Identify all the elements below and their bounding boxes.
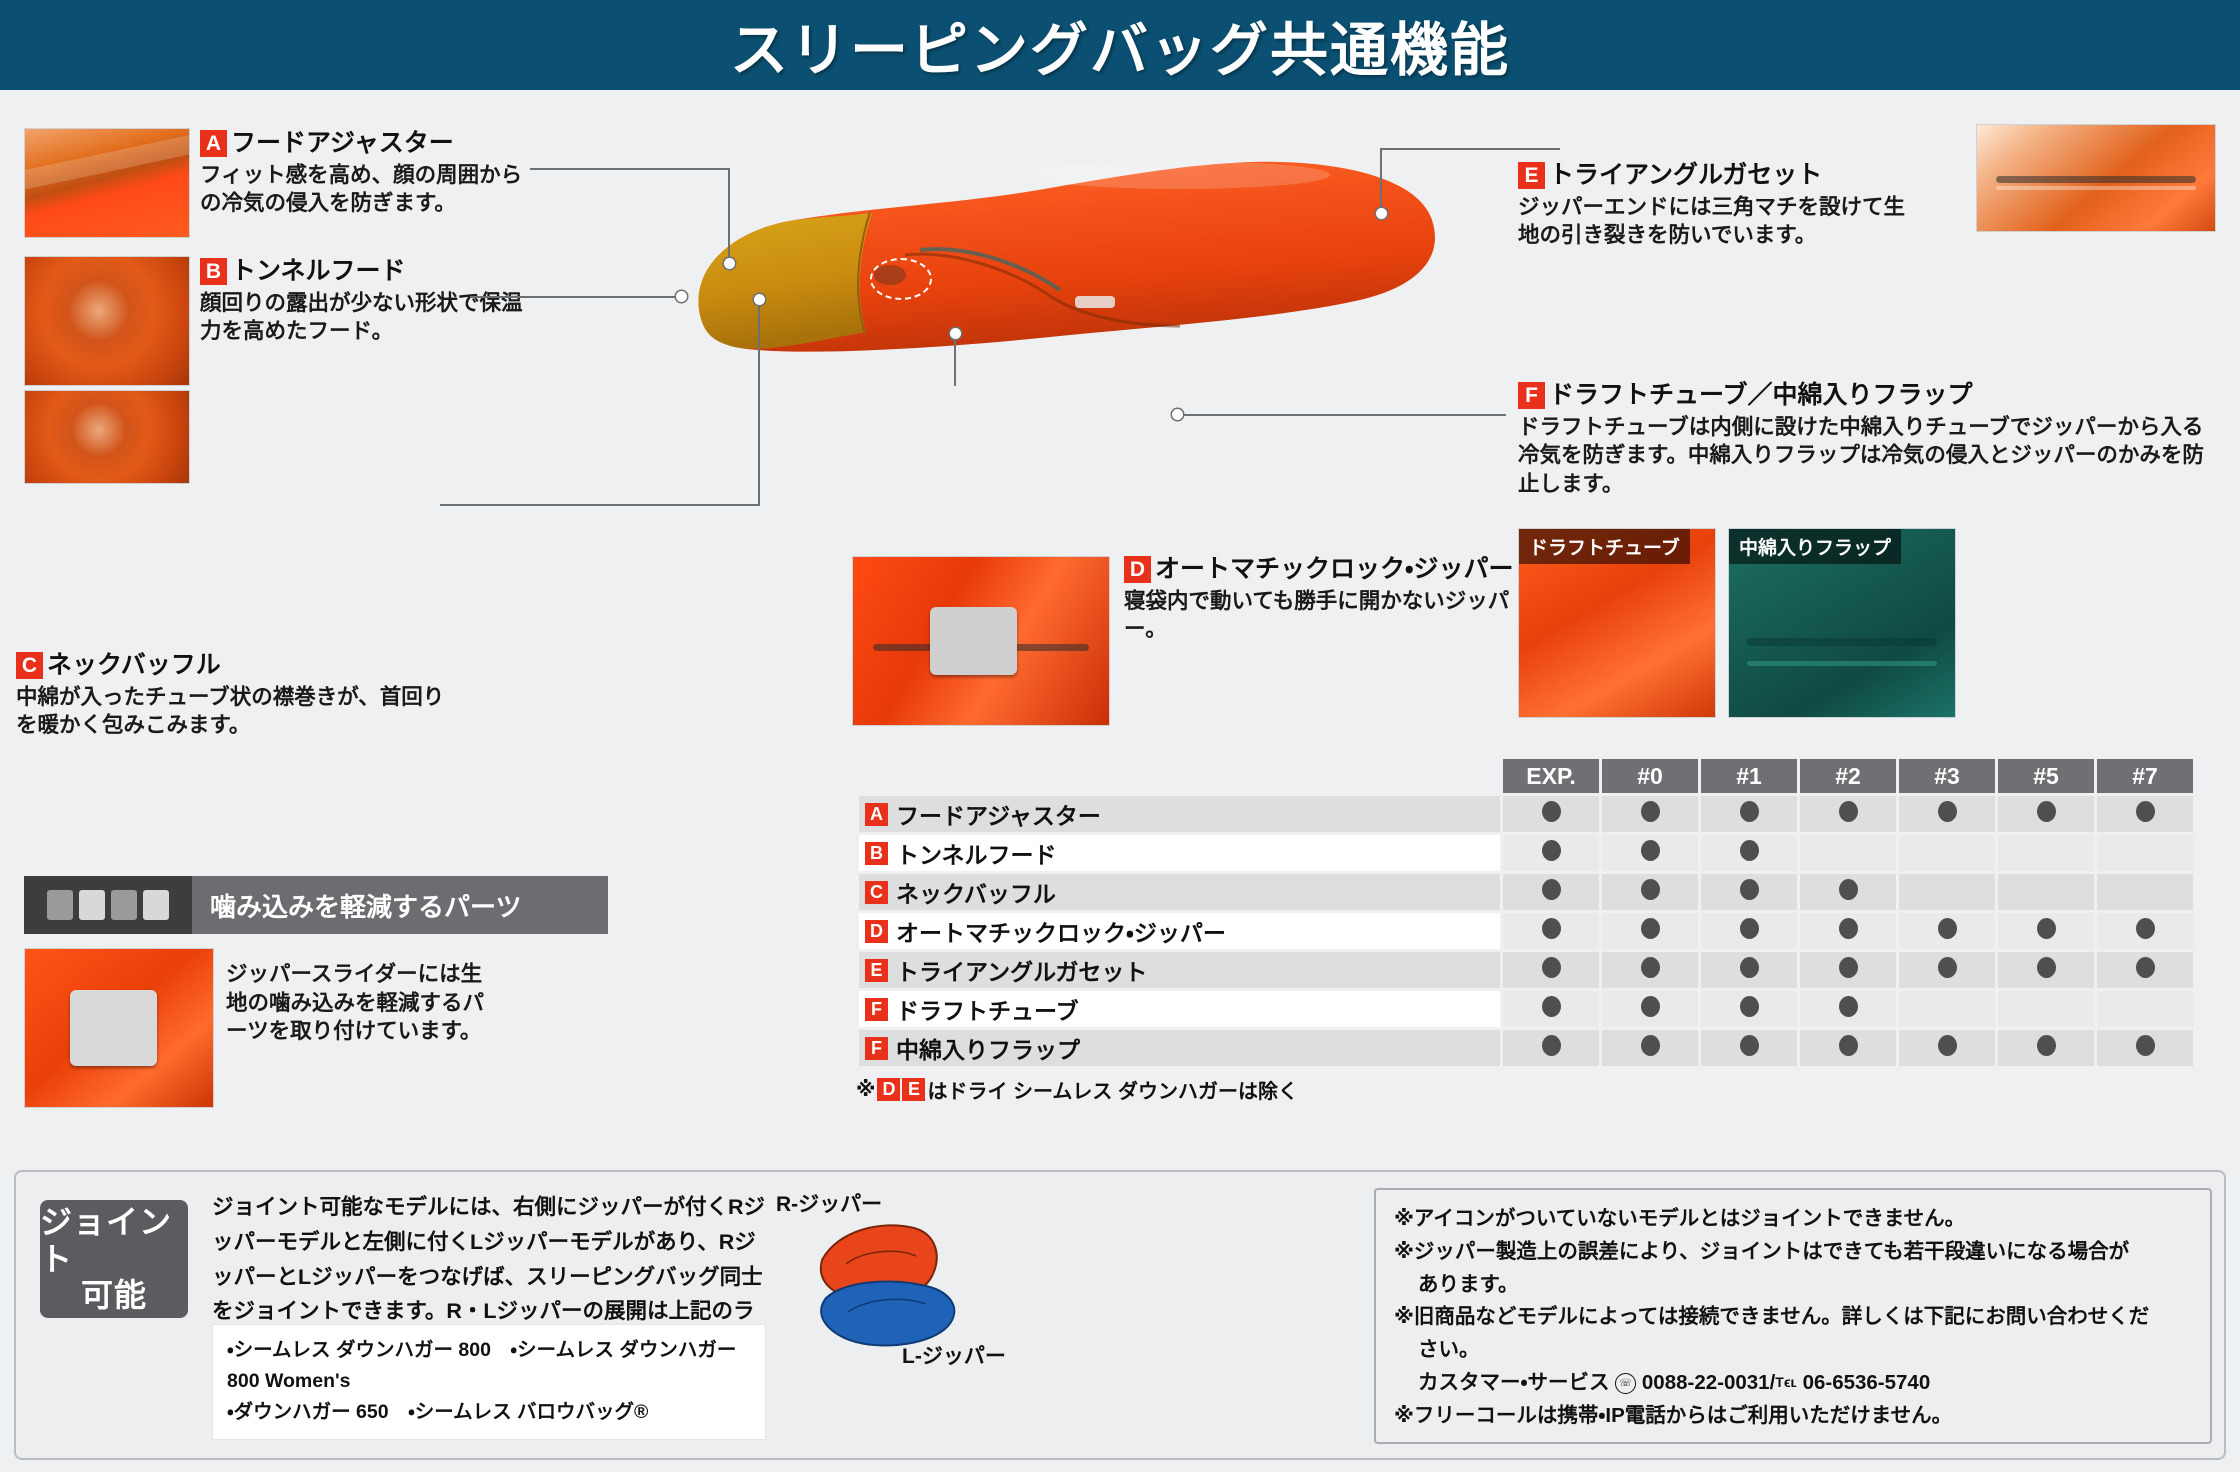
joint-note-4: ※旧商品などモデルによっては接続できません。詳しくは下記にお問い合わせくだ xyxy=(1394,1302,2192,1333)
joint-note-5: さい。 xyxy=(1394,1335,2192,1366)
callout-e: E トライアングルガセット ジッパーエンドには三角マチを設けて生地の引き裂きを防… xyxy=(1518,162,1918,250)
callout-c-body: 中綿が入ったチューブ状の襟巻きが、首回りを暖かく包みこみます。 xyxy=(16,683,446,740)
photo-sheen xyxy=(24,129,190,192)
check-dot-icon xyxy=(1938,918,1957,939)
callout-a-title-text: フードアジャスター xyxy=(231,130,454,158)
table-cell-EXP xyxy=(1503,874,1599,910)
zipper-bag-blue xyxy=(821,1282,954,1346)
table-body: AフードアジャスターBトンネルフードCネックバッフルDオートマチックロック・ジッ… xyxy=(859,796,2193,1066)
photo-caption-draft-tube: ドラフトチューブ xyxy=(1519,529,1690,564)
parts-icon-group xyxy=(24,876,192,934)
footnote-prefix: ※ xyxy=(856,1077,875,1102)
table-cell-7 xyxy=(2097,874,2193,910)
leader-line-a xyxy=(530,168,730,170)
parts-bar: 噛み込みを軽減するパーツ xyxy=(24,876,608,934)
badge-d-footnote: D xyxy=(877,1078,900,1101)
callout-f-title-text: ドラフトチューブ／中綿入りフラップ xyxy=(1549,382,1973,410)
table-cell-0 xyxy=(1602,835,1698,871)
bag-highlight xyxy=(1030,161,1330,189)
photo-tunnel-hood xyxy=(24,256,190,386)
check-dot-icon xyxy=(1641,957,1660,978)
check-dot-icon xyxy=(2037,957,2056,978)
check-dot-icon xyxy=(1542,996,1561,1017)
table-row: Eトライアングルガセット xyxy=(859,952,2193,988)
check-dot-icon xyxy=(1839,957,1858,978)
callout-e-body: ジッパーエンドには三角マチを設けて生地の引き裂きを防いでいます。 xyxy=(1518,193,1918,250)
table-cell-0 xyxy=(1602,952,1698,988)
zipper-direction-illustration: R-ジッパー L-ジッパー xyxy=(786,1194,1016,1364)
bag-logo-tag xyxy=(1075,296,1115,308)
badge-a-row: A xyxy=(865,803,888,826)
table-cell-3 xyxy=(1899,952,1995,988)
check-dot-icon xyxy=(1938,957,1957,978)
callout-f-title: F ドラフトチューブ／中綿入りフラップ xyxy=(1518,382,2208,410)
photo-hood-face xyxy=(24,390,190,484)
table-cell-2 xyxy=(1800,874,1896,910)
table-cell-1 xyxy=(1701,991,1797,1027)
table-col-2: #2 xyxy=(1800,759,1896,793)
badge-f-row: F xyxy=(865,1037,888,1060)
callout-a-body: フィット感を高め、顔の周囲からの冷気の侵入を防ぎます。 xyxy=(200,161,530,218)
check-dot-icon xyxy=(1740,996,1759,1017)
leader-dot-a xyxy=(724,258,735,269)
table-row: Aフードアジャスター xyxy=(859,796,2193,832)
row-label-inner: Eトライアングルガセット xyxy=(865,953,1500,987)
photo-zipper-line-2 xyxy=(1996,186,2196,190)
check-dot-icon xyxy=(1740,1035,1759,1056)
row-label-text: 中綿入りフラップ xyxy=(896,1031,1080,1065)
check-dot-icon xyxy=(2136,957,2155,978)
joint-note-2: ※ジッパー製造上の誤差により、ジョイントはできても若干段違いになる場合が xyxy=(1394,1237,2192,1268)
zipper-slider-icon-4 xyxy=(143,890,169,920)
highlight-circle-draft xyxy=(870,258,932,300)
table-row-label: Cネックバッフル xyxy=(859,874,1500,910)
table-cell-1 xyxy=(1701,874,1797,910)
photo-d-zipper-slider xyxy=(930,607,1017,674)
check-dot-icon xyxy=(2136,1035,2155,1056)
leader-line-b xyxy=(470,296,680,298)
row-label-text: フードアジャスター xyxy=(896,797,1101,831)
footnote-suffix: はドライ シームレス ダウンハガーは除く xyxy=(927,1075,1298,1104)
page-header: スリーピングバッグ共通機能 xyxy=(0,0,2240,90)
joint-tag: ジョイント 可能 xyxy=(40,1200,188,1318)
row-label-text: オートマチックロック・ジッパー xyxy=(896,914,1226,948)
page-root: スリーピングバッグ共通機能 A フードアジャスター フィット感を高め、顔の周囲か… xyxy=(0,0,2240,1472)
table-cell-2 xyxy=(1800,835,1896,871)
check-dot-icon xyxy=(1740,879,1759,900)
table-cell-EXP xyxy=(1503,835,1599,871)
table-cell-0 xyxy=(1602,796,1698,832)
callout-b-title-text: トンネルフード xyxy=(231,258,406,286)
badge-e: E xyxy=(1518,162,1545,189)
table-cell-7 xyxy=(2097,913,2193,949)
table-cell-2 xyxy=(1800,796,1896,832)
badge-e-footnote: E xyxy=(902,1078,925,1101)
callout-e-title-text: トライアングルガセット xyxy=(1549,162,1822,190)
badge-b: B xyxy=(200,258,227,285)
table-cell-3 xyxy=(1899,874,1995,910)
table-cell-5 xyxy=(1998,796,2094,832)
table-col-0: #0 xyxy=(1602,759,1698,793)
badge-f: F xyxy=(1518,382,1545,409)
leader-line-c xyxy=(440,504,760,506)
joint-note-1: ※アイコンがついていないモデルとはジョイントできません。 xyxy=(1394,1204,2192,1235)
table-row: F中綿入りフラップ xyxy=(859,1030,2193,1066)
callout-e-title: E トライアングルガセット xyxy=(1518,162,1918,190)
table-cell-3 xyxy=(1899,796,1995,832)
table-cell-EXP xyxy=(1503,991,1599,1027)
callout-f-body: ドラフトチューブは内側に設けた中綿入りチューブでジッパーから入る冷気を防ぎます。… xyxy=(1518,413,2208,499)
check-dot-icon xyxy=(1542,918,1561,939)
customer-service-label: カスタマー・サービス xyxy=(1418,1371,1609,1394)
table-cell-EXP xyxy=(1503,796,1599,832)
badge-f-row: F xyxy=(865,998,888,1021)
table-row-label: Aフードアジャスター xyxy=(859,796,1500,832)
table-cell-1 xyxy=(1701,1030,1797,1066)
table-cell-1 xyxy=(1701,952,1797,988)
check-dot-icon xyxy=(1641,1035,1660,1056)
table-col-1: #1 xyxy=(1701,759,1797,793)
photo-zipper-slider-part xyxy=(24,948,214,1108)
callout-d: D オートマチックロック・ジッパー 寝袋内で動いても勝手に開かないジッパー。 xyxy=(1124,556,1524,644)
check-dot-icon xyxy=(1740,801,1759,822)
row-label-inner: Dオートマチックロック・ジッパー xyxy=(865,914,1500,948)
joint-note-contact: カスタマー・サービス ☏ 0088-22-0031/Tϵʟ 06-6536-57… xyxy=(1394,1368,2192,1399)
table-col-3: #3 xyxy=(1899,759,1995,793)
table-cell-5 xyxy=(1998,1030,2094,1066)
table-cell-5 xyxy=(1998,991,2094,1027)
joint-tag-line2: 可能 xyxy=(81,1277,147,1314)
table-cell-7 xyxy=(2097,835,2193,871)
table-cell-3 xyxy=(1899,913,1995,949)
photo-hood-adjuster xyxy=(24,128,190,238)
badge-d: D xyxy=(1124,556,1151,583)
table-row: Bトンネルフード xyxy=(859,835,2193,871)
check-dot-icon xyxy=(1839,918,1858,939)
check-dot-icon xyxy=(1542,1035,1561,1056)
table-cell-EXP xyxy=(1503,952,1599,988)
table-cell-7 xyxy=(2097,1030,2193,1066)
table-cell-3 xyxy=(1899,835,1995,871)
table-corner-cell xyxy=(859,759,1500,793)
photo-triangle-gusset xyxy=(1976,124,2216,232)
leader-line-a-v xyxy=(728,168,730,264)
leader-dot-f xyxy=(1172,409,1183,420)
row-label-inner: Bトンネルフード xyxy=(865,836,1500,870)
joint-models-line2: ・ダウンハガー 650 ・シームレス バロウバッグ® xyxy=(227,1397,751,1428)
table-cell-0 xyxy=(1602,991,1698,1027)
free-dial-number: 0088-22-0031 xyxy=(1642,1371,1770,1394)
callout-d-title: D オートマチックロック・ジッパー xyxy=(1124,556,1524,584)
table-cell-2 xyxy=(1800,952,1896,988)
table-cell-0 xyxy=(1602,874,1698,910)
check-dot-icon xyxy=(1641,996,1660,1017)
leader-line-c-v xyxy=(758,300,760,506)
check-dot-icon xyxy=(2136,918,2155,939)
table-col-exp: EXP. xyxy=(1503,759,1599,793)
check-dot-icon xyxy=(2037,801,2056,822)
table-cell-2 xyxy=(1800,913,1896,949)
table-row: Dオートマチックロック・ジッパー xyxy=(859,913,2193,949)
zipper-l-label: L-ジッパー xyxy=(902,1340,1006,1370)
table-row-label: Fドラフトチューブ xyxy=(859,991,1500,1027)
bag-foot xyxy=(698,213,872,349)
table-cell-7 xyxy=(2097,952,2193,988)
leader-line-e xyxy=(1380,148,1560,150)
photo-auto-lock-zipper xyxy=(852,556,1110,726)
joint-panel: ジョイント 可能 ジョイント可能なモデルには、右側にジッパーが付くRジッパーモデ… xyxy=(14,1170,2226,1460)
check-dot-icon xyxy=(1542,801,1561,822)
joint-notes-box: ※アイコンがついていないモデルとはジョイントできません。 ※ジッパー製造上の誤差… xyxy=(1374,1188,2212,1444)
leader-dot-c xyxy=(754,294,765,305)
check-dot-icon xyxy=(2037,918,2056,939)
check-dot-icon xyxy=(2136,801,2155,822)
check-dot-icon xyxy=(1938,801,1957,822)
free-dial-icon: ☏ xyxy=(1615,1373,1636,1394)
row-label-text: ドラフトチューブ xyxy=(896,992,1079,1026)
table-cell-5 xyxy=(1998,913,2094,949)
photo-zipper-line xyxy=(1996,176,2196,183)
parts-description-body: ジッパースライダーには生地の噛み込みを軽減するパーツを取り付けています。 xyxy=(226,960,486,1046)
row-label-text: トライアングルガセット xyxy=(896,953,1147,987)
check-dot-icon xyxy=(1641,879,1660,900)
table-row-label: F中綿入りフラップ xyxy=(859,1030,1500,1066)
table-cell-3 xyxy=(1899,991,1995,1027)
leader-line-f xyxy=(1176,414,1506,416)
check-dot-icon xyxy=(1542,957,1561,978)
badge-c-row: C xyxy=(865,881,888,904)
callout-c-title: C ネックバッフル xyxy=(16,652,446,680)
callout-b: B トンネルフード 顔回りの露出が少ない形状で保温力を高めたフード。 xyxy=(200,258,530,346)
table-cell-0 xyxy=(1602,913,1698,949)
table-col-5: #5 xyxy=(1998,759,2094,793)
joint-note-3: あります。 xyxy=(1394,1270,2192,1301)
table-cell-EXP xyxy=(1503,913,1599,949)
table-cell-2 xyxy=(1800,1030,1896,1066)
joint-models-box: ・シームレス ダウンハガー 800 ・シームレス ダウンハガー 800 Wome… xyxy=(212,1324,766,1440)
photo-insulated-flap: 中綿入りフラップ xyxy=(1728,528,1956,718)
leader-dot-e xyxy=(1376,208,1387,219)
table-cell-1 xyxy=(1701,835,1797,871)
callout-a: A フードアジャスター フィット感を高め、顔の周囲からの冷気の侵入を防ぎます。 xyxy=(200,130,530,218)
check-dot-icon xyxy=(1542,840,1561,861)
sleeping-bag-svg xyxy=(620,100,1500,400)
table-cell-EXP xyxy=(1503,1030,1599,1066)
table-col-7: #7 xyxy=(2097,759,2193,793)
zipper-slider-icon-3 xyxy=(111,890,137,920)
leader-dot-b xyxy=(676,291,687,302)
callout-b-title: B トンネルフード xyxy=(200,258,530,286)
callout-a-title: A フードアジャスター xyxy=(200,130,530,158)
check-dot-icon xyxy=(1740,840,1759,861)
row-label-inner: Aフードアジャスター xyxy=(865,797,1500,831)
callout-d-body: 寝袋内で動いても勝手に開かないジッパー。 xyxy=(1124,587,1524,644)
check-dot-icon xyxy=(1938,1035,1957,1056)
callout-c: C ネックバッフル 中綿が入ったチューブ状の襟巻きが、首回りを暖かく包みこみます… xyxy=(16,652,446,740)
photo-draft-tube: ドラフトチューブ xyxy=(1518,528,1716,718)
parts-bar-label: 噛み込みを軽減するパーツ xyxy=(192,887,521,924)
feature-table: EXP. #0 #1 #2 #3 #5 #7 AフードアジャスターBトンネルフー… xyxy=(856,756,2196,1069)
page-title: スリーピングバッグ共通機能 xyxy=(0,0,2240,90)
badge-e-row: E xyxy=(865,959,888,982)
row-label-text: ネックバッフル xyxy=(896,875,1056,909)
table-cell-5 xyxy=(1998,874,2094,910)
table-cell-2 xyxy=(1800,991,1896,1027)
table-cell-1 xyxy=(1701,913,1797,949)
row-label-inner: F中綿入りフラップ xyxy=(865,1031,1500,1065)
callout-d-title-text: オートマチックロック・ジッパー xyxy=(1155,556,1514,584)
photo-flap-seam-2 xyxy=(1747,661,1937,666)
leader-line-d-v xyxy=(954,334,956,386)
check-dot-icon xyxy=(1839,801,1858,822)
table-row: Fドラフトチューブ xyxy=(859,991,2193,1027)
row-label-text: トンネルフード xyxy=(896,836,1057,870)
leader-dot-d xyxy=(950,328,961,339)
table-cell-5 xyxy=(1998,952,2094,988)
table-row-label: Eトライアングルガセット xyxy=(859,952,1500,988)
check-dot-icon xyxy=(1740,918,1759,939)
joint-models-line1: ・シームレス ダウンハガー 800 ・シームレス ダウンハガー 800 Wome… xyxy=(227,1335,751,1397)
callout-f: F ドラフトチューブ／中綿入りフラップ ドラフトチューブは内側に設けた中綿入りチ… xyxy=(1518,382,2208,498)
table-footnote: ※ D E はドライ シームレス ダウンハガーは除く xyxy=(856,1075,2196,1104)
table-row: Cネックバッフル xyxy=(859,874,2193,910)
joint-note-7: ※フリーコールは携帯・IP電話からはご利用いただけません。 xyxy=(1394,1401,2192,1432)
table-row-label: Bトンネルフード xyxy=(859,835,1500,871)
table-header-row: EXP. #0 #1 #2 #3 #5 #7 xyxy=(859,759,2193,793)
check-dot-icon xyxy=(1740,957,1759,978)
sleeping-bag-illustration xyxy=(620,100,1500,400)
badge-b-row: B xyxy=(865,842,888,865)
check-dot-icon xyxy=(1641,801,1660,822)
row-label-inner: Cネックバッフル xyxy=(865,875,1500,909)
table-cell-5 xyxy=(1998,835,2094,871)
joint-tag-line1: ジョイント xyxy=(40,1204,188,1278)
badge-a: A xyxy=(200,130,227,157)
badge-c: C xyxy=(16,652,43,679)
row-label-inner: Fドラフトチューブ xyxy=(865,992,1500,1026)
photo-flap-seam xyxy=(1747,638,1937,646)
table-cell-0 xyxy=(1602,1030,1698,1066)
parts-description: ジッパースライダーには生地の噛み込みを軽減するパーツを取り付けています。 xyxy=(226,960,486,1046)
callout-c-title-text: ネックバッフル xyxy=(47,652,221,680)
check-dot-icon xyxy=(1641,840,1660,861)
table-cell-7 xyxy=(2097,991,2193,1027)
check-dot-icon xyxy=(1839,996,1858,1017)
table-cell-7 xyxy=(2097,796,2193,832)
photo-caption-insulated-flap: 中綿入りフラップ xyxy=(1729,529,1901,564)
table-cell-3 xyxy=(1899,1030,1995,1066)
check-dot-icon xyxy=(1839,1035,1858,1056)
tel-abbrev-label: Tϵʟ xyxy=(1775,1374,1797,1390)
feature-table-block: EXP. #0 #1 #2 #3 #5 #7 AフードアジャスターBトンネルフー… xyxy=(856,756,2196,1104)
table-row-label: Dオートマチックロック・ジッパー xyxy=(859,913,1500,949)
leader-line-e-v xyxy=(1380,148,1382,214)
check-dot-icon xyxy=(1542,879,1561,900)
photo-slider-body xyxy=(70,990,156,1066)
zipper-slider-icon-1 xyxy=(47,890,73,920)
tel-number: 06-6536-5740 xyxy=(1803,1371,1931,1394)
check-dot-icon xyxy=(1641,918,1660,939)
badge-d-row: D xyxy=(865,920,888,943)
check-dot-icon xyxy=(2037,1035,2056,1056)
zipper-illo-svg xyxy=(786,1194,1016,1364)
check-dot-icon xyxy=(1839,879,1858,900)
table-cell-1 xyxy=(1701,796,1797,832)
zipper-r-label: R-ジッパー xyxy=(776,1188,882,1218)
zipper-slider-icon-2 xyxy=(79,890,105,920)
